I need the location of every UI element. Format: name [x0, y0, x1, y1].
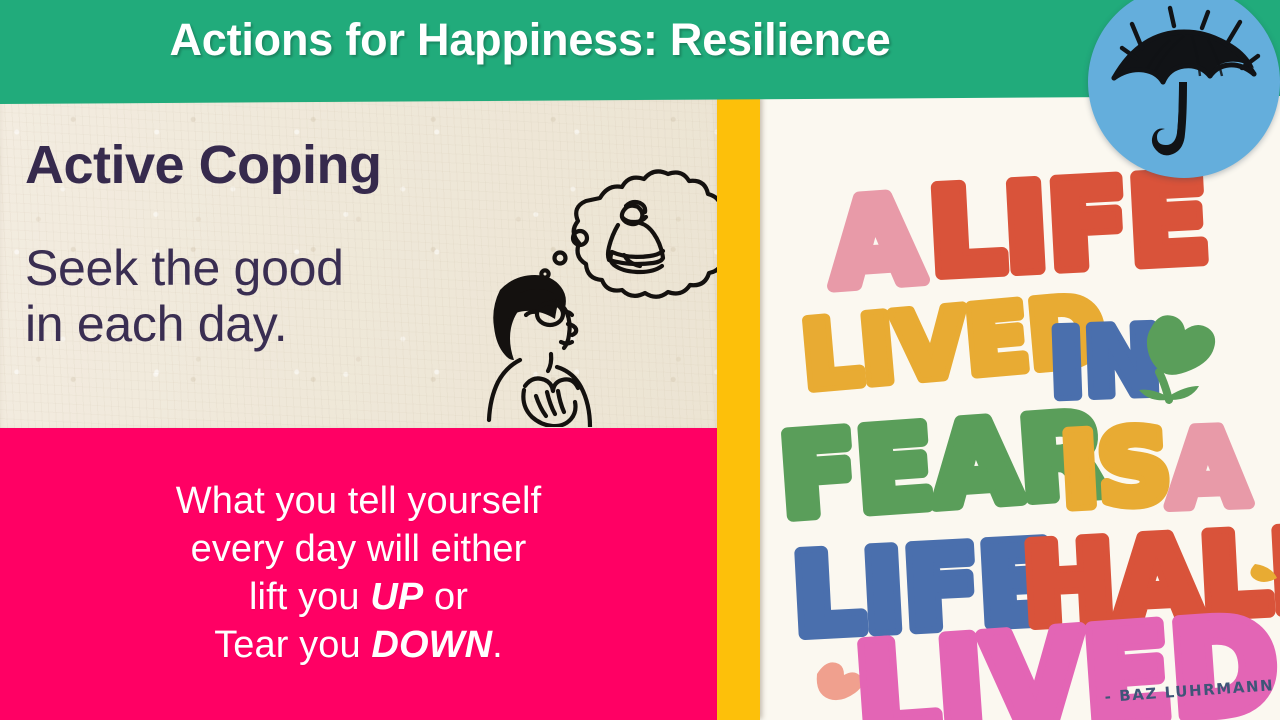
- yellow-divider-bar: [717, 96, 760, 720]
- right-art-panel: .w { font-family:"DejaVu Sans", sans-ser…: [763, 96, 1280, 720]
- quote-line-3: lift you UP or: [176, 574, 541, 622]
- page-subtitle: Seek the good in each day.: [25, 240, 344, 352]
- slide-canvas: Active Coping Seek the good in each day.: [0, 0, 1280, 720]
- quote-emphasis-up: UP: [370, 576, 423, 618]
- quote-line-4: Tear you DOWN.: [176, 622, 541, 670]
- pink-quote-box: What you tell yourself every day will ei…: [0, 428, 717, 720]
- quote-line-3-post: or: [423, 576, 468, 618]
- subtitle-line-1: Seek the good: [25, 240, 344, 296]
- art-word-a-1: A: [825, 170, 926, 314]
- pink-quote-text: What you tell yourself every day will ei…: [152, 478, 565, 670]
- quote-line-4-post: .: [492, 624, 503, 666]
- art-word-is: IS: [1058, 407, 1173, 530]
- quote-emphasis-down: DOWN: [371, 624, 492, 666]
- umbrella-icon: [1114, 8, 1258, 155]
- quote-line-3-pre: lift you: [249, 576, 370, 618]
- baz-luhrmann-quote-artwork: .w { font-family:"DejaVu Sans", sans-ser…: [763, 96, 1280, 720]
- quote-line-2: every day will either: [176, 526, 541, 574]
- woman-with-thought-bubble-illustration: [462, 162, 717, 427]
- subtitle-line-2: in each day.: [25, 296, 344, 352]
- page-title: Active Coping: [25, 138, 382, 192]
- quote-line-1: What you tell yourself: [176, 478, 541, 526]
- quote-line-4-pre: Tear you: [214, 624, 371, 666]
- header-title: Actions for Happiness: Resilience: [0, 14, 1060, 66]
